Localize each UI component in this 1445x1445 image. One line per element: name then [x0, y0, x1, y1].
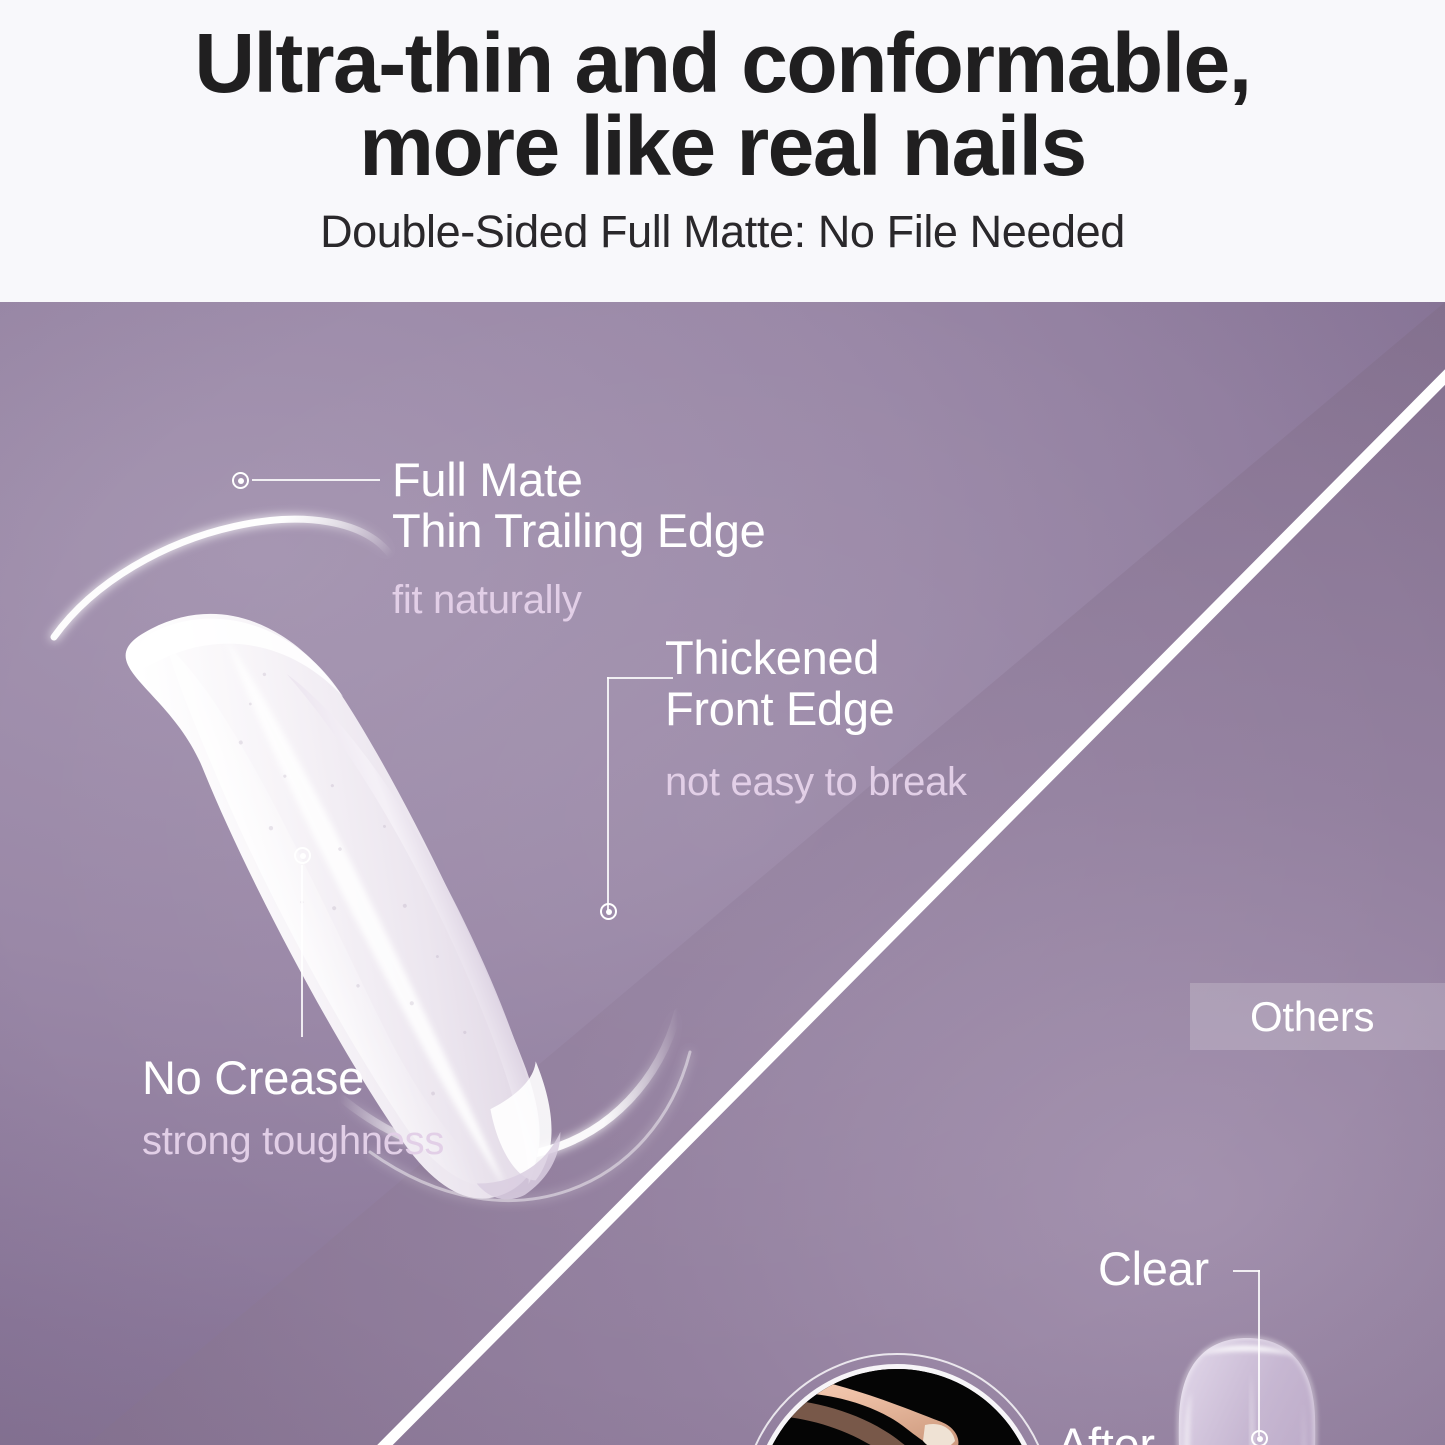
callout-label-no-crease: No Crease: [142, 1052, 364, 1103]
callout-label-thickened: Thickened Front Edge: [665, 632, 895, 734]
callout-leader-line: [607, 677, 609, 910]
callout-sublabel-thickened: not easy to break: [665, 761, 967, 805]
callout-dot-thickened-icon: [600, 903, 617, 920]
callout-label-clear: Clear: [1098, 1243, 1209, 1294]
comparison-stage: Full Mate Thin Trailing Edge fit natural…: [0, 302, 1445, 1445]
callout-leader-line: [301, 865, 303, 1037]
callout-dot-full-matte-icon: [232, 472, 249, 489]
callout-label-after-bend: After Bend: [1057, 1419, 1166, 1445]
section-badge-label: Others: [1250, 993, 1374, 1041]
callout-leader-line: [607, 677, 673, 679]
product-infographic: Ultra-thin and conformable, more like re…: [0, 0, 1445, 1445]
callout-label-full-matte: Full Mate Thin Trailing Edge: [392, 454, 765, 556]
section-badge-others: Others: [1190, 983, 1445, 1050]
callout-dot-no-crease-icon: [294, 847, 311, 864]
page-title: Ultra-thin and conformable, more like re…: [194, 22, 1250, 188]
header-banner: Ultra-thin and conformable, more like re…: [0, 0, 1445, 302]
callout-leader-line: [1258, 1270, 1260, 1436]
callout-leader-line: [252, 479, 380, 481]
callout-sublabel-full-matte: fit naturally: [392, 579, 582, 623]
callout-sublabel-no-crease: strong toughness: [142, 1120, 444, 1164]
callout-dot-clear-icon: [1251, 1430, 1268, 1445]
callout-leader-line: [1233, 1270, 1260, 1272]
page-subtitle: Double-Sided Full Matte: No File Needed: [320, 206, 1125, 258]
